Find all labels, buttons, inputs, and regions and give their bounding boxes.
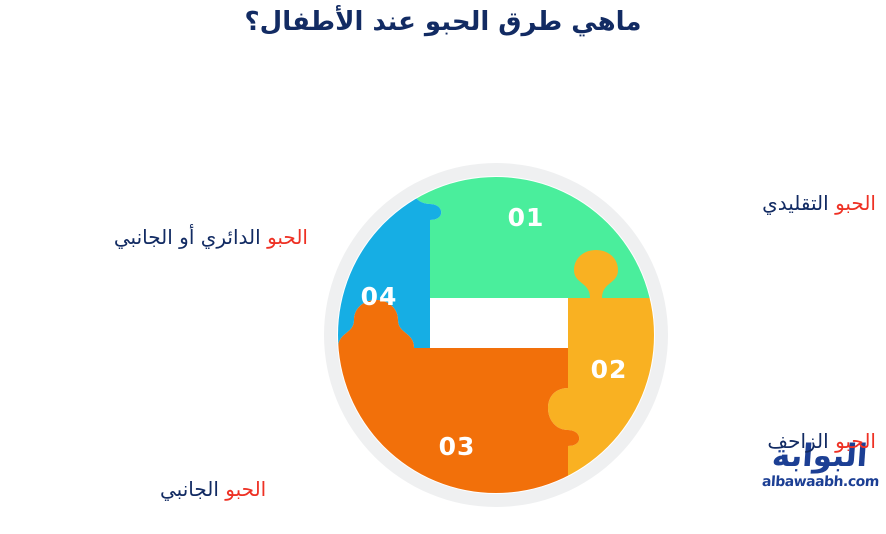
label-04-navy: الدائري أو الجانبي	[114, 225, 261, 249]
segment-number-04: 04	[361, 282, 398, 311]
label-segment-04: الحبو الدائري أو الجانبي	[8, 224, 308, 250]
label-03-navy: الجانبي	[160, 477, 219, 501]
puzzle-segments	[322, 130, 682, 520]
segment-number-03: 03	[439, 432, 476, 461]
puzzle-svg: 01 02 03 04	[322, 130, 682, 520]
label-segment-01: الحبو التقليدي	[762, 190, 876, 216]
puzzle-circle-diagram: 01 02 03 04 البوابة albawaabh.com	[322, 130, 682, 520]
label-segment-02: الحبو الزاحف	[767, 428, 876, 454]
segment-01-green[interactable]	[410, 130, 682, 298]
center-white	[430, 298, 568, 348]
page-title: ماهي طرق الحبو عند الأطفال؟	[0, 6, 886, 39]
segment-number-02: 02	[591, 355, 628, 384]
label-01-red: الحبو	[835, 191, 876, 215]
label-02-red: الحبو	[835, 429, 876, 453]
label-03-red: الحبو	[225, 477, 266, 501]
logo-domain-text: albawaabh.com	[761, 474, 879, 490]
label-segment-03: الحبو الجانبي	[160, 476, 266, 502]
label-04-red: الحبو	[267, 225, 308, 249]
infographic-page: ماهي طرق الحبو عند الأطفال؟	[0, 0, 886, 534]
label-01-navy: التقليدي	[762, 191, 829, 215]
label-02-navy: الزاحف	[767, 429, 828, 453]
segment-number-01: 01	[508, 203, 545, 232]
